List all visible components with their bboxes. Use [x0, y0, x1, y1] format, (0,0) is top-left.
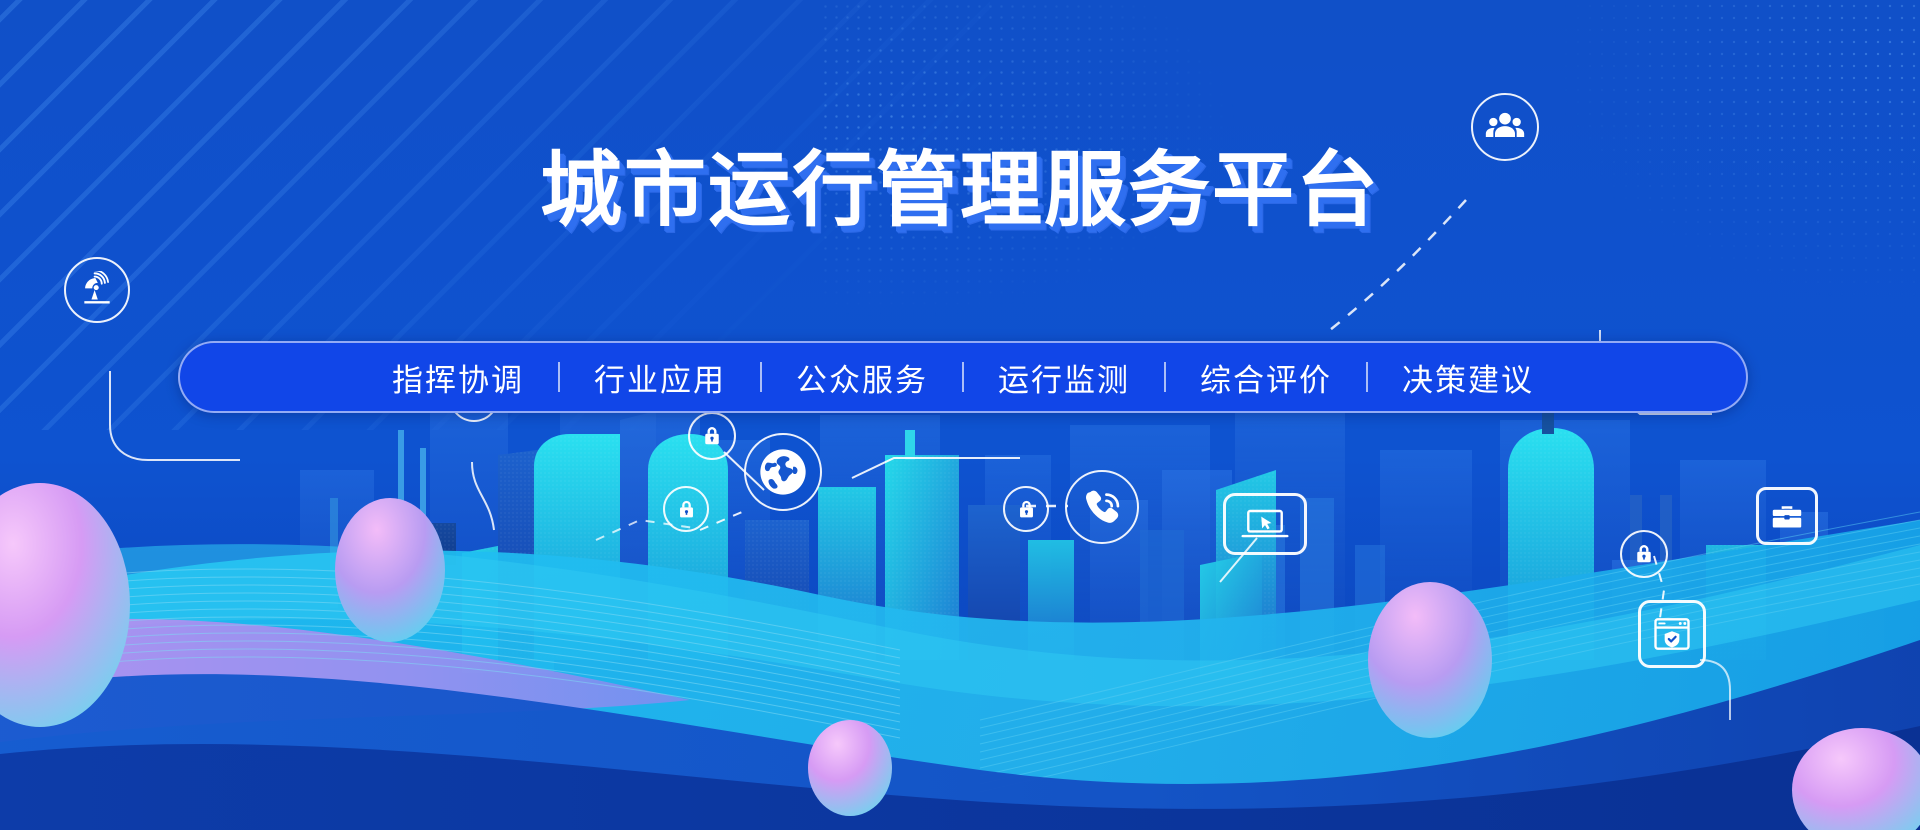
people-group-icon[interactable] — [1471, 93, 1539, 161]
lock-icon[interactable] — [1003, 486, 1049, 532]
nav-item-gongzhong-fuwu[interactable]: 公众服务 — [762, 355, 962, 400]
page-title: 城市运行管理服务平台 — [540, 150, 1380, 232]
city-platform-banner: 城市运行管理服务平台 指挥协调 行业应用 公众服务 运行监测 综合评价 决策建议 — [0, 0, 1920, 830]
page-title-wrapper: 城市运行管理服务平台 — [0, 150, 1920, 232]
nav-item-zhihui-xietiao[interactable]: 指挥协调 — [358, 355, 558, 400]
lock-icon[interactable] — [1620, 530, 1668, 578]
nav-item-zonghe-pingjia[interactable]: 综合评价 — [1166, 355, 1366, 400]
lock-icon[interactable] — [663, 486, 709, 532]
phone-signal-icon[interactable] — [1065, 470, 1139, 544]
nav-item-juece-jianyi[interactable]: 决策建议 — [1368, 355, 1568, 400]
gradient-spheres — [0, 0, 1920, 830]
browser-shield-icon[interactable] — [1638, 600, 1706, 668]
lock-icon[interactable] — [688, 412, 736, 460]
nav-items-container: 指挥协调 行业应用 公众服务 运行监测 综合评价 决策建议 — [358, 355, 1568, 400]
satellite-dish-icon[interactable] — [64, 257, 130, 323]
main-navigation-bar[interactable]: 指挥协调 行业应用 公众服务 运行监测 综合评价 决策建议 — [178, 341, 1748, 413]
nav-item-hangye-yingyong[interactable]: 行业应用 — [560, 355, 760, 400]
nav-item-yunxing-jiance[interactable]: 运行监测 — [964, 355, 1164, 400]
globe-icon[interactable] — [744, 433, 822, 511]
briefcase-icon[interactable] — [1756, 487, 1818, 545]
laptop-cursor-icon[interactable] — [1223, 493, 1307, 555]
